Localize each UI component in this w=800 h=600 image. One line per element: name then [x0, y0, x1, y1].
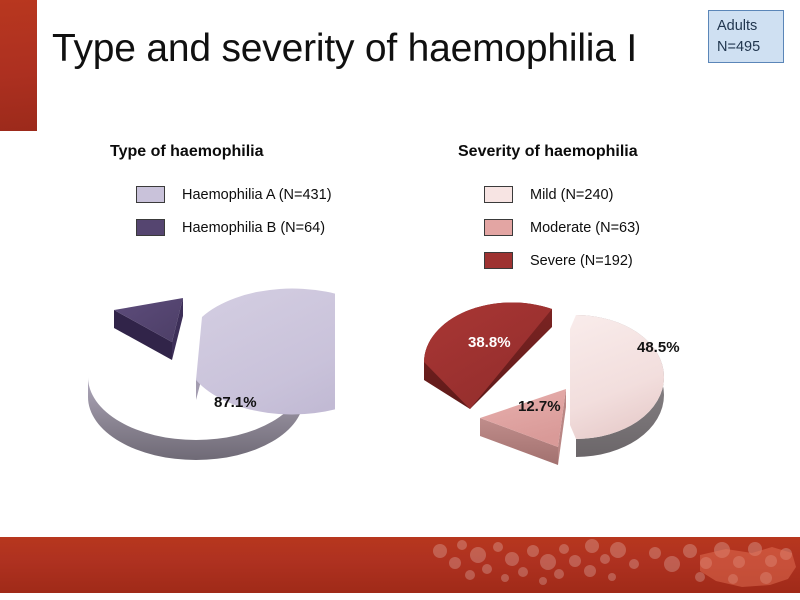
- legend-item[interactable]: Haemophilia A (N=431): [136, 178, 332, 211]
- pie-slice-haemophilia-b[interactable]: [114, 298, 183, 360]
- czech-republic-map-shape: [700, 547, 796, 587]
- cohort-callout: Adults N=495: [708, 10, 784, 63]
- legend-severity: Mild (N=240) Moderate (N=63) Severe (N=1…: [484, 178, 640, 277]
- footer-bottom-edge: [0, 593, 800, 600]
- cohort-callout-label: Adults: [717, 16, 783, 37]
- slide-canvas: Type and severity of haemophilia I Adult…: [0, 0, 800, 600]
- legend-swatch-moderate: [484, 219, 513, 236]
- pie-label-haemophilia-a: 87.1%: [214, 394, 257, 411]
- chart-heading-severity: Severity of haemophilia: [458, 143, 638, 161]
- legend-swatch-haemophilia-b: [136, 219, 165, 236]
- pie-label-moderate: 12.7%: [518, 398, 561, 415]
- pie-chart-severity: [418, 285, 723, 465]
- pie-label-mild: 48.5%: [637, 339, 680, 356]
- legend-type: Haemophilia A (N=431) Haemophilia B (N=6…: [136, 178, 332, 244]
- pie-chart-type: [70, 285, 335, 460]
- accent-bar-decoration: [0, 0, 37, 131]
- legend-item[interactable]: Severe (N=192): [484, 244, 640, 277]
- chart-heading-type: Type of haemophilia: [110, 143, 264, 161]
- legend-item[interactable]: Haemophilia B (N=64): [136, 211, 332, 244]
- legend-label: Mild (N=240): [530, 187, 613, 203]
- legend-item[interactable]: Moderate (N=63): [484, 211, 640, 244]
- legend-label: Moderate (N=63): [530, 220, 640, 236]
- cohort-callout-count: N=495: [717, 37, 783, 58]
- page-title: Type and severity of haemophilia I: [52, 24, 682, 74]
- pie-slice-severe[interactable]: [424, 302, 552, 409]
- footer-band: Czech National Hemophilia Program MU IBA…: [0, 537, 800, 593]
- footer-dot-pattern: [0, 537, 800, 593]
- pie-slice-mild[interactable]: [570, 315, 664, 457]
- legend-swatch-severe: [484, 252, 513, 269]
- legend-item[interactable]: Mild (N=240): [484, 178, 640, 211]
- legend-label: Haemophilia B (N=64): [182, 220, 325, 236]
- legend-label: Haemophilia A (N=431): [182, 187, 332, 203]
- legend-label: Severe (N=192): [530, 253, 633, 269]
- legend-swatch-haemophilia-a: [136, 186, 165, 203]
- pie-label-severe: 38.8%: [468, 334, 511, 351]
- legend-swatch-mild: [484, 186, 513, 203]
